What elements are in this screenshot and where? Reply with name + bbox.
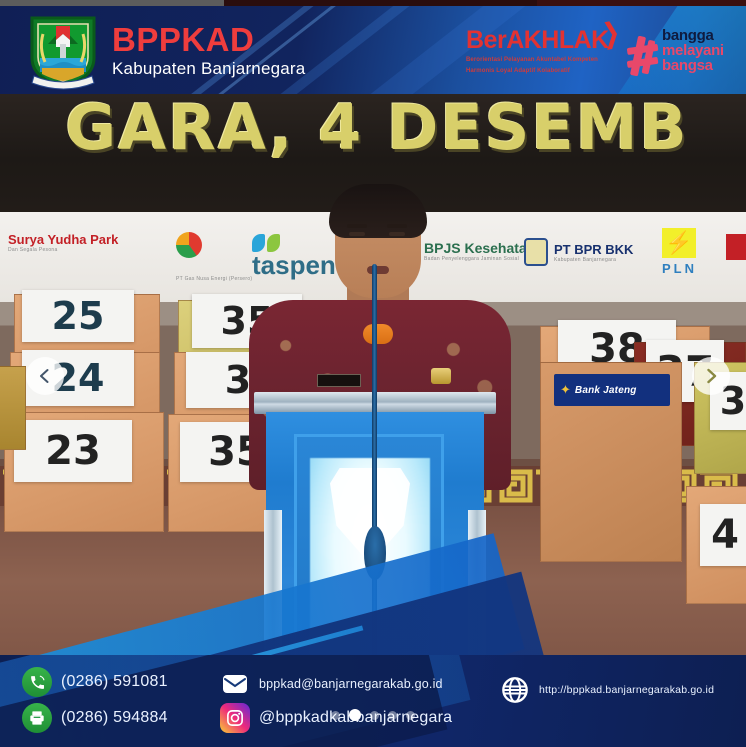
speaker-eye: [349, 232, 365, 236]
contact-email[interactable]: bppkad@banjarnegarakab.go.id: [220, 669, 443, 699]
speaker-mouth: [367, 266, 389, 274]
chevron-right-icon: ❯: [602, 19, 620, 49]
bank-jateng-sticker: ✦ Bank Jateng: [554, 374, 670, 406]
contact-phone[interactable]: (0286) 591081: [22, 667, 168, 697]
microphone-head-icon: [364, 526, 386, 580]
chevron-right-icon: [703, 368, 719, 384]
carousel-dots: [331, 709, 415, 721]
brand-subtitle: Kabupaten Banjarnegara: [112, 60, 305, 77]
carousel-dot-active[interactable]: [349, 709, 361, 721]
brand-block: BPPKAD Kabupaten Banjarnegara: [112, 23, 305, 77]
microphone-stand: [372, 264, 377, 694]
carousel-next-button[interactable]: [692, 357, 730, 395]
carousel-dot[interactable]: [331, 711, 340, 720]
microphone-foam-icon: [363, 324, 393, 344]
carousel-dot[interactable]: [406, 711, 415, 720]
chevron-left-icon: [37, 368, 53, 384]
speaker-eyebrow: [387, 224, 407, 228]
sponsor-logo: PT Gas Nusa Energi (Persero): [176, 232, 252, 282]
top-sliver: [0, 0, 746, 6]
speaker-eyebrow: [347, 224, 367, 228]
website-url: http://bppkad.banjarnegarakab.go.id: [539, 684, 714, 696]
carousel-dot[interactable]: [388, 711, 397, 720]
gift-box: [0, 366, 26, 450]
site-footer: (0286) 591081 (0286) 594884 bppkad@banja…: [0, 655, 746, 747]
sponsor-name: PLN: [662, 261, 697, 276]
bangga-line-2: melayani: [662, 43, 724, 58]
email-address: bppkad@banjarnegarakab.go.id: [259, 677, 443, 691]
sponsor-logo: ⚡ PLN: [662, 228, 697, 276]
phone-icon: [22, 667, 52, 697]
sponsor-sub: Dan Segala Pesona: [8, 247, 118, 253]
sponsor-mark-icon: [176, 232, 202, 258]
bangga-line-3: bangsa: [662, 58, 724, 73]
site-header: BPPKAD Kabupaten Banjarnegara BerAKHLAK …: [0, 6, 746, 94]
bangga-melayani-bangsa-mark-icon: [626, 34, 660, 78]
berakhlak-tagline-line2: Harmonis Loyal Adaptif Kolaboratif: [466, 67, 616, 75]
banjarnegara-coat-of-arms-icon: [26, 14, 100, 90]
berakhlak-ber: Ber: [466, 26, 506, 54]
carousel-prev-button[interactable]: [26, 357, 64, 395]
bangga-line-1: bangga: [662, 28, 724, 43]
box-number-tag: 25: [22, 290, 134, 342]
slide-image: GARA, 4 DESEMB Surya Yudha Park Dan Sega…: [0, 94, 746, 694]
fax-icon: [22, 703, 52, 733]
instagram-icon: [220, 703, 250, 733]
bank-jateng-mark-icon: ✦: [560, 382, 571, 398]
podium: [258, 392, 492, 694]
sponsor-name: PT BPR BKK: [554, 242, 633, 257]
sponsor-logo: Surya Yudha Park Dan Segala Pesona: [8, 232, 118, 253]
box-number-tag: 4: [700, 504, 746, 566]
pln-bolt-icon: ⚡: [662, 228, 696, 258]
berakhlak-tagline-line1: Berorientasi Pelayanan Akuntabel Kompete…: [466, 56, 616, 64]
contact-website[interactable]: http://bppkad.banjarnegarakab.go.id: [500, 675, 714, 705]
phone-number: (0286) 591081: [61, 673, 168, 691]
carousel-dot[interactable]: [370, 711, 379, 720]
bpr-bkk-mark-icon: [524, 238, 548, 266]
sponsor-logo: PT BPR BKK Kabupaten Banjarnegara: [524, 238, 633, 266]
contact-fax[interactable]: (0286) 594884: [22, 703, 168, 733]
speaker-hair: [329, 184, 427, 238]
sponsor-name: Surya Yudha Park: [8, 232, 118, 247]
bangga-melayani-bangsa-logo: bangga melayani bangsa: [626, 28, 738, 84]
page-root: BPPKAD Kabupaten Banjarnegara BerAKHLAK …: [0, 0, 746, 747]
backdrop-headline: GARA, 4 DESEMB: [0, 98, 746, 158]
fax-number: (0286) 594884: [61, 709, 168, 727]
bangga-wordmark: bangga melayani bangsa: [662, 28, 724, 73]
globe-icon: [500, 675, 530, 705]
sponsor-logo: [726, 234, 746, 260]
sponsor-sub: Kabupaten Banjarnegara: [554, 257, 633, 263]
page-title: BPPKAD: [112, 23, 305, 56]
sponsor-sub: PT Gas Nusa Energi (Persero): [176, 276, 252, 282]
berakhlak-logo: BerAKHLAK ❯ Berorientasi Pelayanan Akunt…: [466, 28, 616, 75]
box-number-tag: 23: [14, 420, 132, 482]
email-icon: [220, 669, 250, 699]
berakhlak-wordmark: BerAKHLAK ❯: [466, 28, 616, 53]
bank-jateng-label: Bank Jateng: [575, 385, 637, 396]
speaker-eye: [389, 232, 405, 236]
speaker-name-tag: [317, 374, 361, 387]
berakhlak-akhlak: AKHLAK: [506, 26, 609, 54]
speaker-lapel-pin: [431, 368, 451, 384]
